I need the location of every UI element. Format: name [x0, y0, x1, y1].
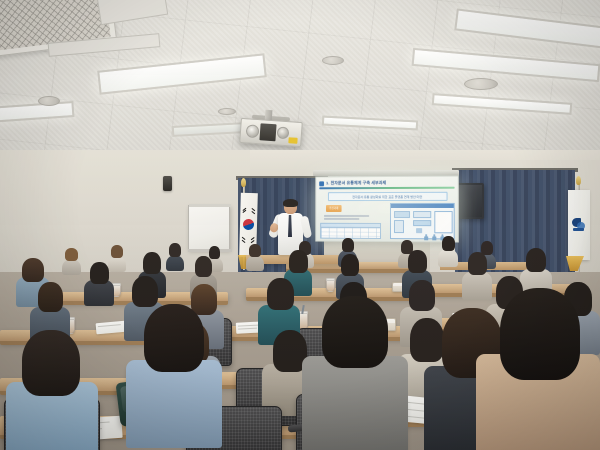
ceiling-speaker-icon-3 — [464, 78, 498, 90]
institution-emblem-icon — [572, 216, 586, 232]
attendee-front-3 — [302, 296, 408, 448]
attendee-row2-2 — [84, 262, 114, 304]
presentation-slide: 1. 전자문서 유통체계 구축 세부과제 전자문서 유통 활성화를 위한 표준 … — [316, 177, 457, 242]
attendee-far-10 — [62, 248, 81, 274]
slide-callout-box: 전자문서 유통 활성화를 위한 표준 플랫폼 연계 방안 마련 — [328, 192, 448, 201]
attendee-far-4 — [438, 236, 458, 266]
diagram-person-icon-1 — [424, 234, 428, 240]
attendee-front-5 — [476, 288, 600, 450]
slide-tag-label: 추진과제 — [326, 205, 342, 212]
diagram-node-2 — [413, 211, 431, 218]
slide-tag-chip: 추진과제 — [326, 205, 342, 212]
ceiling-speaker-icon-2 — [322, 56, 344, 65]
flag-finial-right-icon — [576, 176, 581, 185]
diagram-node-3 — [434, 211, 452, 233]
projector-sticker — [288, 137, 297, 144]
attendee-far-6 — [166, 243, 184, 270]
presenter-glasses-icon — [285, 205, 296, 208]
slide-table-grid — [321, 228, 380, 238]
slide-callout-text: 전자문서 유통 활성화를 위한 표준 플랫폼 연계 방안 마련 — [352, 194, 422, 198]
diagram-node-1 — [394, 211, 410, 218]
diagram-node-4 — [394, 220, 404, 233]
projector-vent — [259, 123, 276, 141]
whiteboard-rail — [189, 204, 231, 207]
attendee-far-8 — [246, 244, 264, 270]
attendee-front-1 — [6, 330, 98, 450]
ceiling-speaker-icon-4 — [218, 108, 236, 115]
taeguk-circle-icon — [243, 219, 254, 230]
slide-schedule-table — [320, 223, 381, 239]
slide-body-lines — [324, 215, 369, 221]
slide-architecture-diagram — [390, 203, 455, 240]
slide-diagram-header — [391, 204, 454, 208]
attendee-front-2 — [126, 304, 222, 444]
projection-screen[interactable]: 1. 전자문서 유통체계 구축 세부과제 전자문서 유통 활성화를 위한 표준 … — [315, 175, 458, 242]
diagram-person-icon-2 — [432, 234, 436, 240]
diagram-node-5 — [413, 220, 431, 226]
whiteboard — [188, 205, 230, 250]
diagram-icon-1 — [416, 228, 422, 233]
wall-speaker-icon — [163, 176, 172, 191]
projector-fan-icon — [277, 126, 290, 139]
institutional-flag — [568, 190, 590, 260]
lecture-hall-photo: 1. 전자문서 유통체계 구축 세부과제 전자문서 유통 활성화를 위한 표준 … — [0, 0, 600, 450]
ceiling-speaker-icon — [38, 96, 60, 106]
projector-lens-icon — [246, 124, 260, 138]
slide-bullet-icon — [319, 181, 324, 186]
flag-finial-left-icon — [241, 178, 246, 187]
slide-divider — [319, 187, 455, 190]
ceiling-projector — [239, 118, 303, 147]
slide-title: 1. 전자문서 유통체계 구축 세부과제 — [326, 180, 386, 186]
